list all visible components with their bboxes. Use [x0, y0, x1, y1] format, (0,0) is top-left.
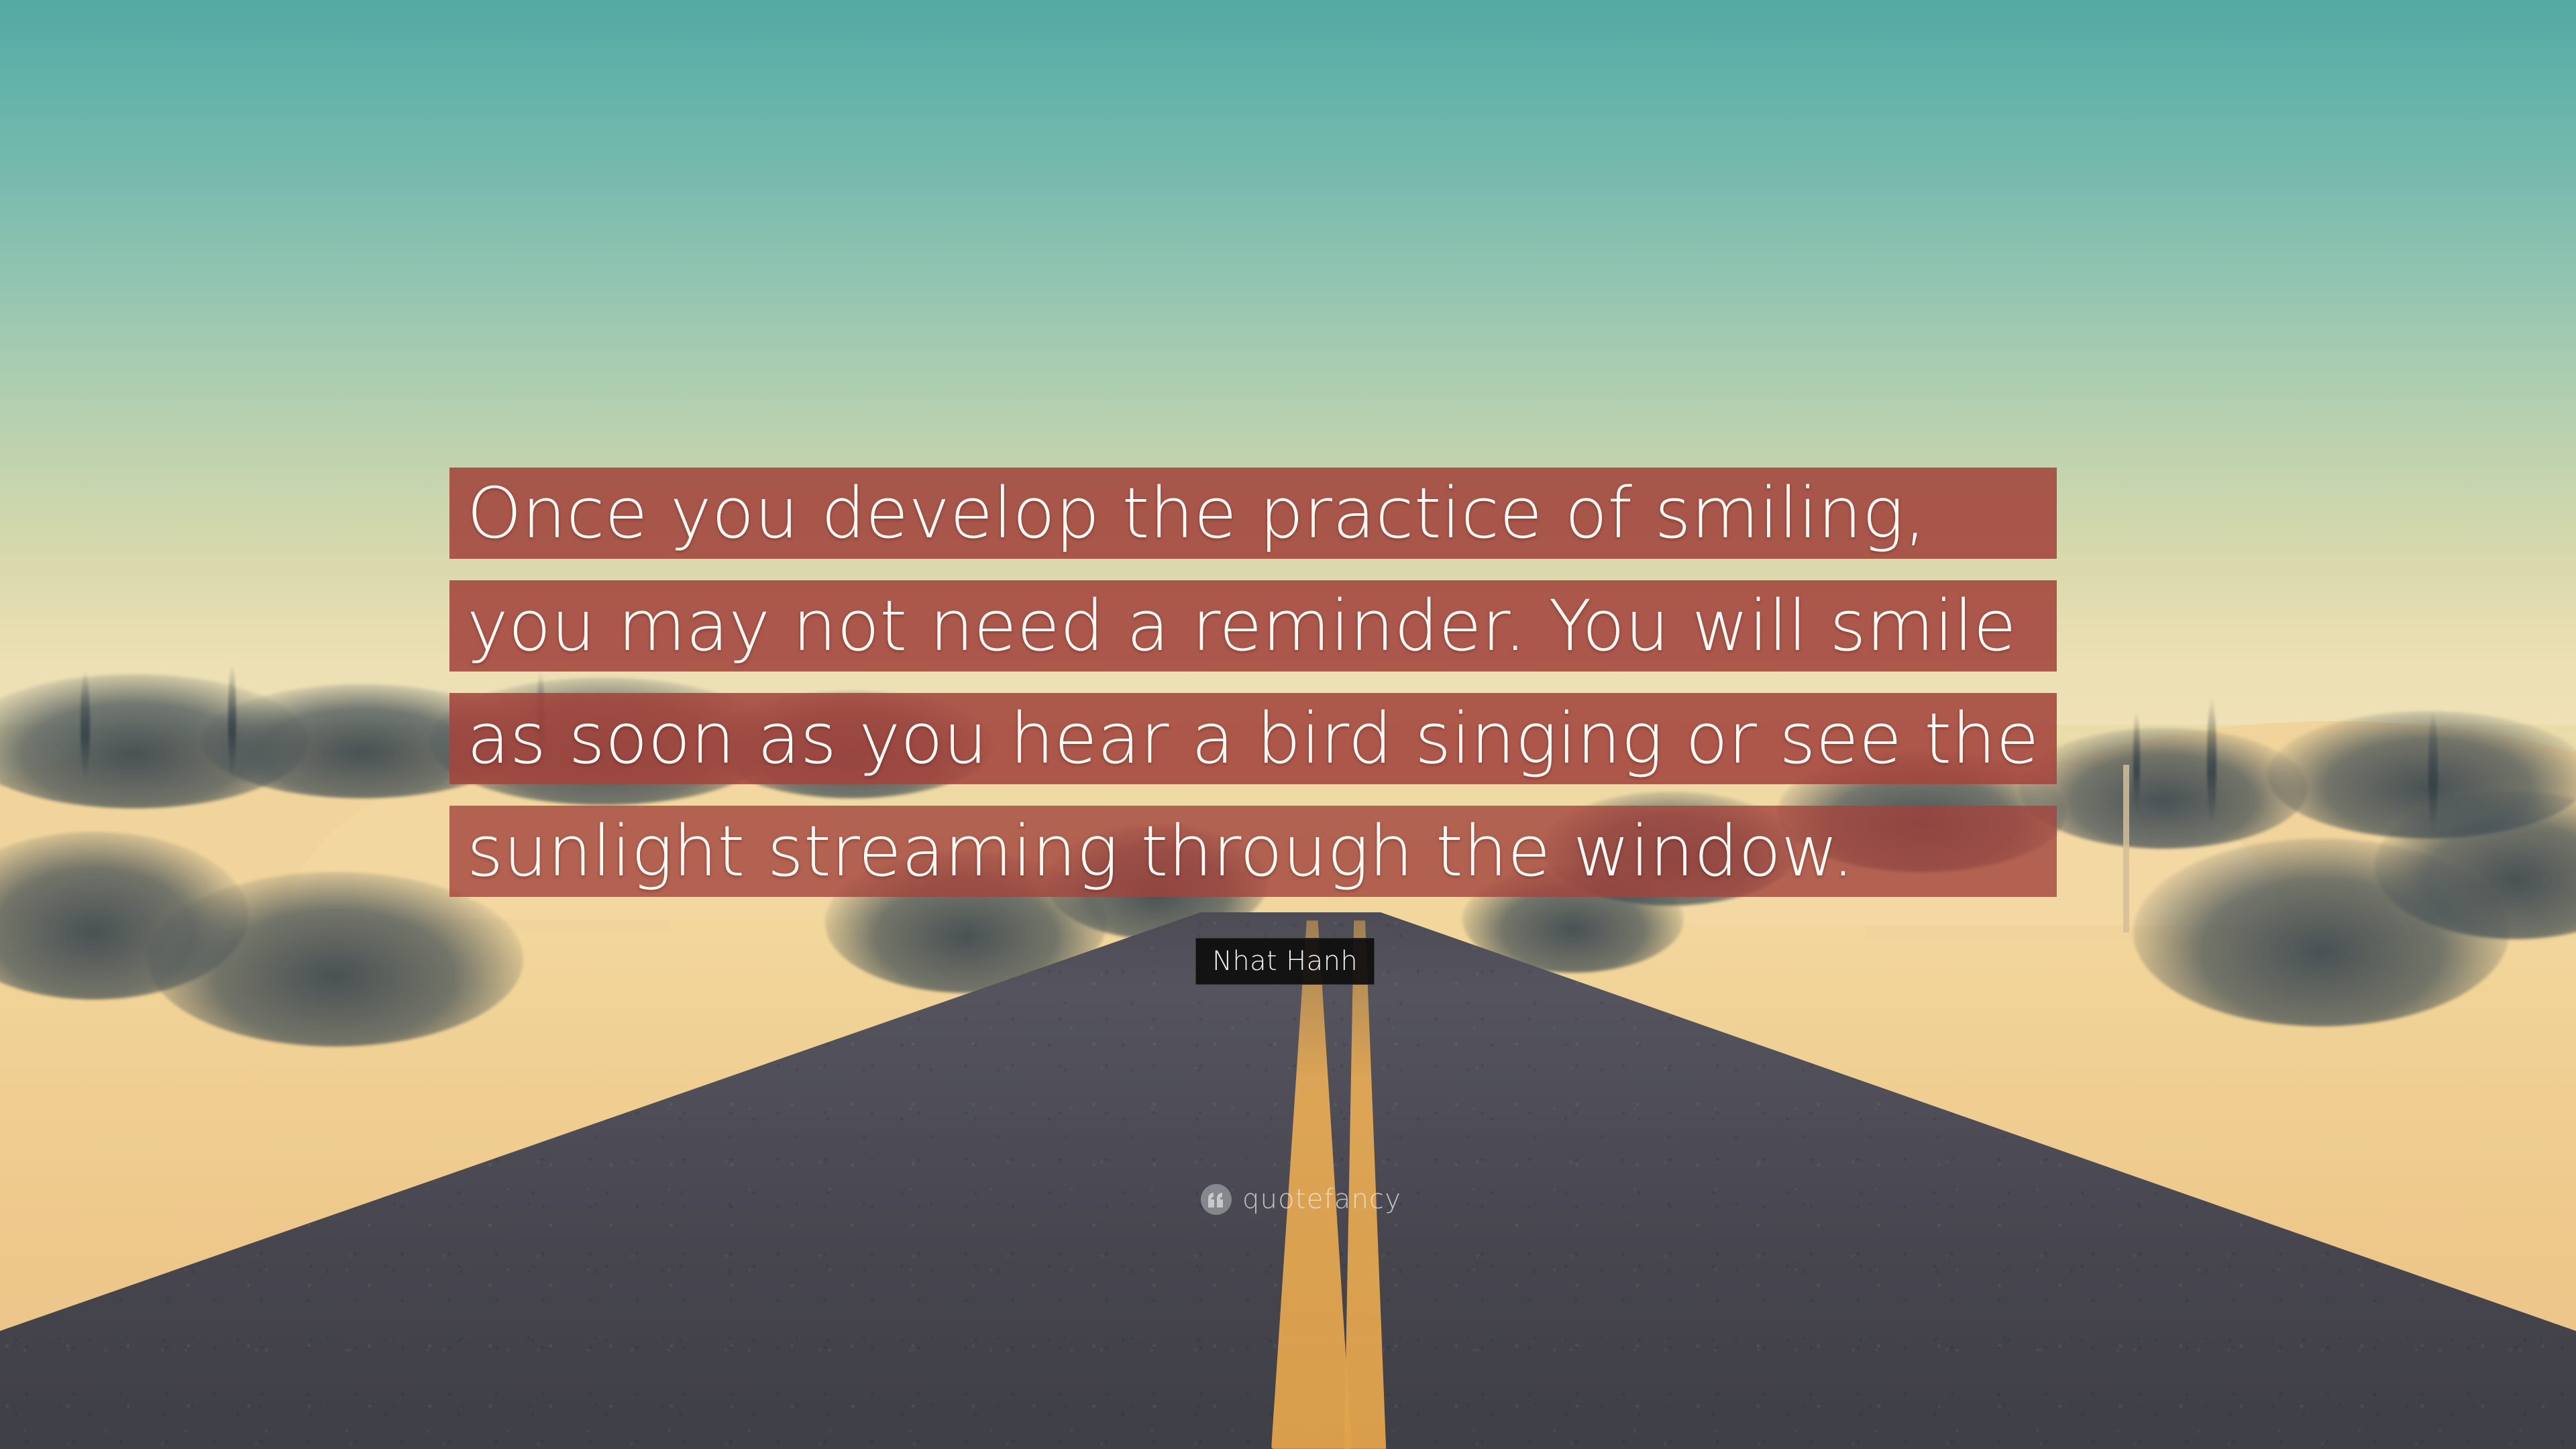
quote-mark-icon	[1201, 1184, 1232, 1215]
quote-line: sunlight streaming through the window.	[449, 806, 2057, 897]
author-attribution: Nhat Hanh	[1195, 938, 1375, 985]
quote-line: Once you develop the practice of smiling…	[449, 468, 2057, 559]
quote-line: you may not need a reminder. You will sm…	[449, 580, 2057, 672]
quote-line-text: as soon as you hear a bird singing or se…	[467, 704, 2039, 773]
grass-tuft	[2428, 711, 2438, 832]
grass-tuft	[228, 664, 236, 778]
quote-poster: Once you develop the practice of smiling…	[0, 0, 2576, 1449]
shrub-cluster	[148, 872, 523, 1046]
grass-tuft	[80, 671, 90, 778]
quote-line: as soon as you hear a bird singing or se…	[449, 693, 2057, 784]
quote-line-text: Once you develop the practice of smiling…	[467, 478, 1927, 548]
author-name: Nhat Hanh	[1212, 946, 1358, 977]
grass-tuft	[2207, 698, 2216, 825]
shrub-cluster	[2019, 728, 2308, 849]
quote-block: Once you develop the practice of smiling…	[449, 468, 2057, 897]
roadside-post	[2123, 765, 2129, 932]
quotefancy-brand-text: quotefancy	[1242, 1184, 1401, 1215]
quote-line-text: sunlight streaming through the window.	[467, 816, 1854, 886]
quote-line-text: you may not need a reminder. You will sm…	[467, 591, 2017, 661]
quotefancy-watermark[interactable]: quotefancy	[1201, 1184, 1401, 1215]
grass-tuft	[2133, 711, 2140, 812]
